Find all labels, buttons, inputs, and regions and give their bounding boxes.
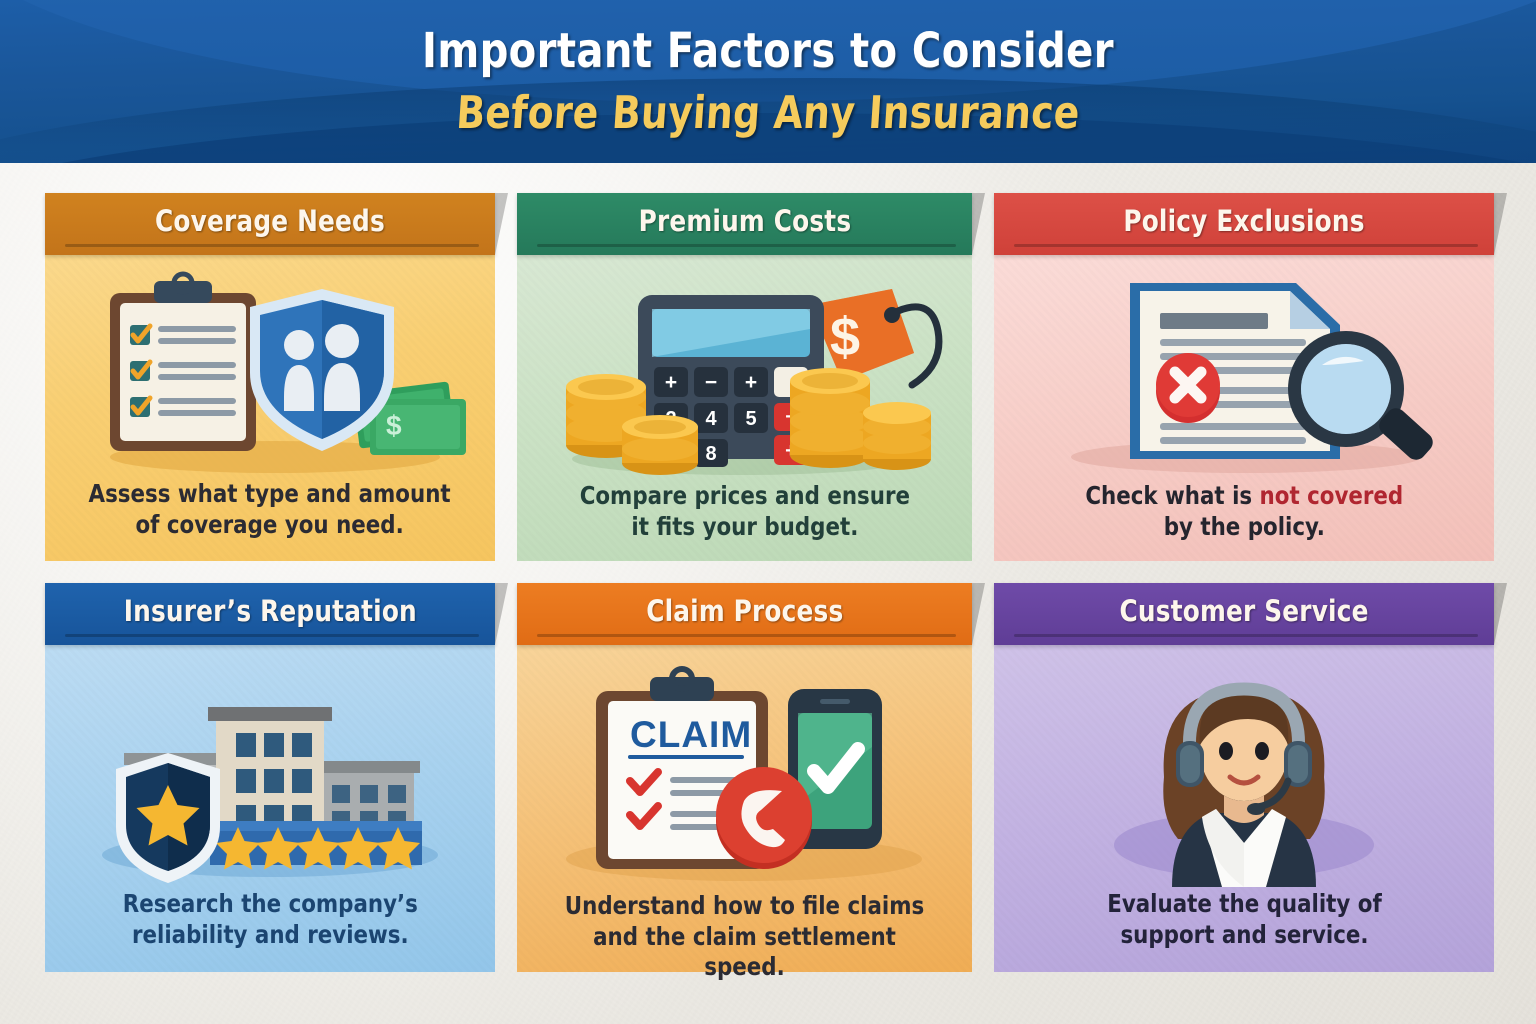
svg-text:$: $ [386,410,402,441]
svg-text:+: + [665,371,677,394]
svg-text:+: + [745,371,757,394]
support-agent-headset-icon [1044,659,1444,889]
card-title: Premium Costs [638,204,851,244]
caption-line-1: Understand how to file claims [565,891,924,920]
card-art-insurers-reputation [59,659,481,889]
factors-grid: Coverage Needs $ [45,193,1492,958]
card-caption: Check what is not covered by the policy. [1077,481,1410,546]
card-header-insurers-reputation: Insurer’s Reputation [45,583,495,645]
coverage-needs-illustration: $ [70,269,470,479]
card-header-customer-service: Customer Service [994,583,1494,645]
caption-line-2: support and service. [1120,920,1368,949]
page-subtitle: Before Buying Any Insurance [455,89,1081,137]
card-policy-exclusions[interactable]: Policy Exclusions [994,193,1494,561]
card-caption: Evaluate the quality of support and serv… [1099,889,1389,954]
caption-highlight: not covered [1259,481,1403,510]
card-title: Coverage Needs [155,204,385,244]
card-caption: Research the company’s reliability and r… [115,889,425,954]
card-art-customer-service [1008,659,1480,889]
page-title: Important Factors to Consider [422,26,1114,77]
card-caption: Understand how to file claims and the cl… [542,891,948,987]
svg-text:8: 8 [705,443,716,465]
card-coverage-needs[interactable]: Coverage Needs $ [45,193,495,561]
card-header-claim-process: Claim Process [517,583,972,645]
svg-text:$: $ [830,307,860,367]
card-art-claim-process: CLAIM [531,659,958,891]
card-title: Policy Exclusions [1123,204,1364,244]
caption-line-2: of coverage you need. [136,510,404,539]
red-x-icon [1156,353,1220,423]
caption-line-1: Evaluate the quality of [1107,889,1382,918]
caption-line-2: and the claim settlement speed. [593,922,896,982]
svg-text:−: − [705,371,717,394]
ribbon-underline [65,244,479,247]
phone-call-icon [716,767,812,869]
card-art-policy-exclusions [1008,269,1480,481]
caption-line-1: Assess what type and amount [89,479,451,508]
card-header-coverage-needs: Coverage Needs [45,193,495,255]
card-title: Insurer’s Reputation [123,594,416,634]
caption-line-2: reliability and reviews. [132,920,409,949]
card-art-coverage-needs: $ [59,269,481,479]
caption-line-1-pre: Check what is [1085,481,1259,510]
header-banner: Important Factors to Consider Before Buy… [0,0,1536,163]
caption-line-2: by the policy. [1163,512,1324,541]
card-header-policy-exclusions: Policy Exclusions [994,193,1494,255]
svg-text:CLAIM: CLAIM [630,714,752,755]
claim-process-illustration: CLAIM [542,659,947,891]
ribbon-underline [65,634,479,637]
ribbon-underline [537,244,956,247]
caption-line-1: Research the company’s [122,889,417,918]
card-title: Claim Process [646,594,843,634]
policy-exclusions-illustration [1034,269,1454,481]
card-header-premium-costs: Premium Costs [517,193,972,255]
svg-text:5: 5 [745,408,756,430]
caption-line-2: it fits your budget. [631,512,858,541]
card-art-premium-costs: $ + − + [531,269,958,481]
card-caption: Compare prices and ensure it fits your b… [572,481,918,546]
ribbon-underline [1014,634,1478,637]
svg-text:4: 4 [705,408,717,430]
card-customer-service[interactable]: Customer Service [994,583,1494,972]
card-caption: Assess what type and amount of coverage … [81,479,458,544]
caption-line-1: Compare prices and ensure [579,481,909,510]
card-title: Customer Service [1119,594,1368,634]
ribbon-underline [537,634,956,637]
premium-costs-illustration: $ + − + [542,269,947,481]
card-claim-process[interactable]: Claim Process [517,583,972,972]
clipboard-checklist-icon [110,274,256,451]
card-premium-costs[interactable]: Premium Costs $ [517,193,972,561]
ribbon-underline [1014,244,1478,247]
card-insurers-reputation[interactable]: Insurer’s Reputation [45,583,495,972]
insurers-reputation-illustration [70,659,470,889]
